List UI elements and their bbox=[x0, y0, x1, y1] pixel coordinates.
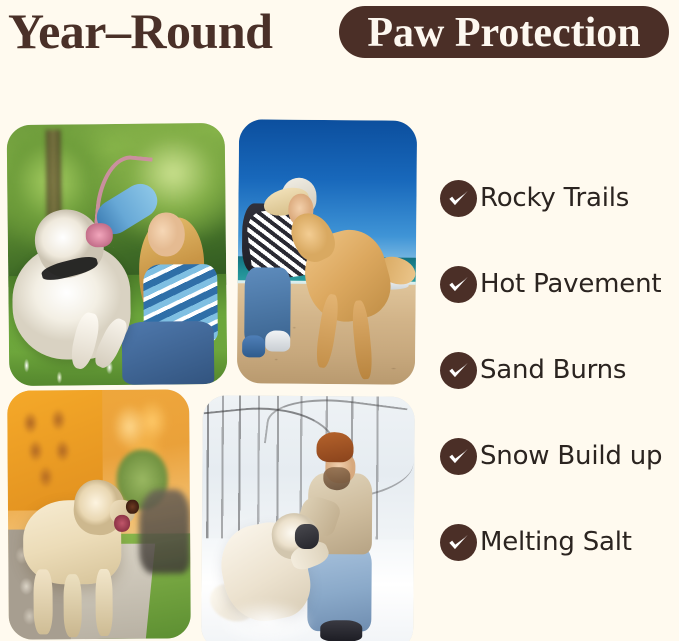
photo-snow-play bbox=[199, 393, 417, 641]
photo-beach-jump bbox=[235, 117, 419, 387]
photo-park-play bbox=[5, 121, 230, 388]
paw-protection-banner: Year–Round Paw Protection bbox=[0, 0, 679, 641]
page-title: Year–Round bbox=[8, 4, 272, 58]
checklist-item-melting-salt: Melting Salt bbox=[440, 520, 632, 564]
checklist-item-sand-burns: Sand Burns bbox=[440, 348, 626, 392]
title-highlight-pill: Paw Protection bbox=[339, 6, 669, 58]
checklist-label: Melting Salt bbox=[480, 527, 632, 557]
yard-dog-leg-front-right bbox=[63, 574, 82, 636]
beach-person-shoe-right bbox=[266, 331, 291, 352]
snow-scene bbox=[201, 395, 415, 641]
yard-dog-leg-rear bbox=[96, 569, 113, 636]
checklist-label: Rocky Trails bbox=[480, 183, 629, 213]
check-circle-icon bbox=[440, 266, 477, 303]
park-rope-knot bbox=[86, 223, 112, 247]
check-circle-icon bbox=[440, 438, 477, 475]
snow-person-glove bbox=[295, 523, 318, 549]
snow-spray bbox=[218, 599, 316, 641]
beach-person-shoe-left bbox=[242, 336, 265, 357]
yard-background-person bbox=[139, 489, 191, 574]
benefits-checklist: Rocky Trails Hot Pavement Sand Burns bbox=[440, 176, 679, 576]
yard-scene bbox=[7, 389, 191, 639]
snow-person-hat bbox=[317, 432, 353, 463]
yard-dog-tongue bbox=[114, 514, 130, 532]
banner-header: Year–Round Paw Protection bbox=[0, 0, 679, 72]
checklist-label: Hot Pavement bbox=[480, 269, 661, 299]
checklist-item-hot-pavement: Hot Pavement bbox=[440, 262, 661, 306]
checklist-label: Snow Build up bbox=[480, 441, 662, 471]
check-circle-icon bbox=[440, 180, 477, 217]
park-person-jeans bbox=[122, 321, 214, 385]
beach-scene bbox=[237, 119, 417, 385]
checklist-label: Sand Burns bbox=[480, 355, 626, 385]
checklist-item-rocky-trails: Rocky Trails bbox=[440, 176, 629, 220]
park-person-face bbox=[147, 212, 185, 257]
park-scene bbox=[7, 123, 228, 386]
check-circle-icon bbox=[440, 352, 477, 389]
photo-collage bbox=[0, 112, 432, 641]
check-circle-icon bbox=[440, 524, 477, 561]
photo-yard-path bbox=[5, 387, 193, 641]
title-pill-label: Paw Protection bbox=[339, 8, 669, 58]
snow-person-boot bbox=[320, 620, 363, 641]
checklist-item-snow-build-up: Snow Build up bbox=[440, 434, 662, 478]
yard-dog-leg-front-left bbox=[34, 570, 53, 635]
